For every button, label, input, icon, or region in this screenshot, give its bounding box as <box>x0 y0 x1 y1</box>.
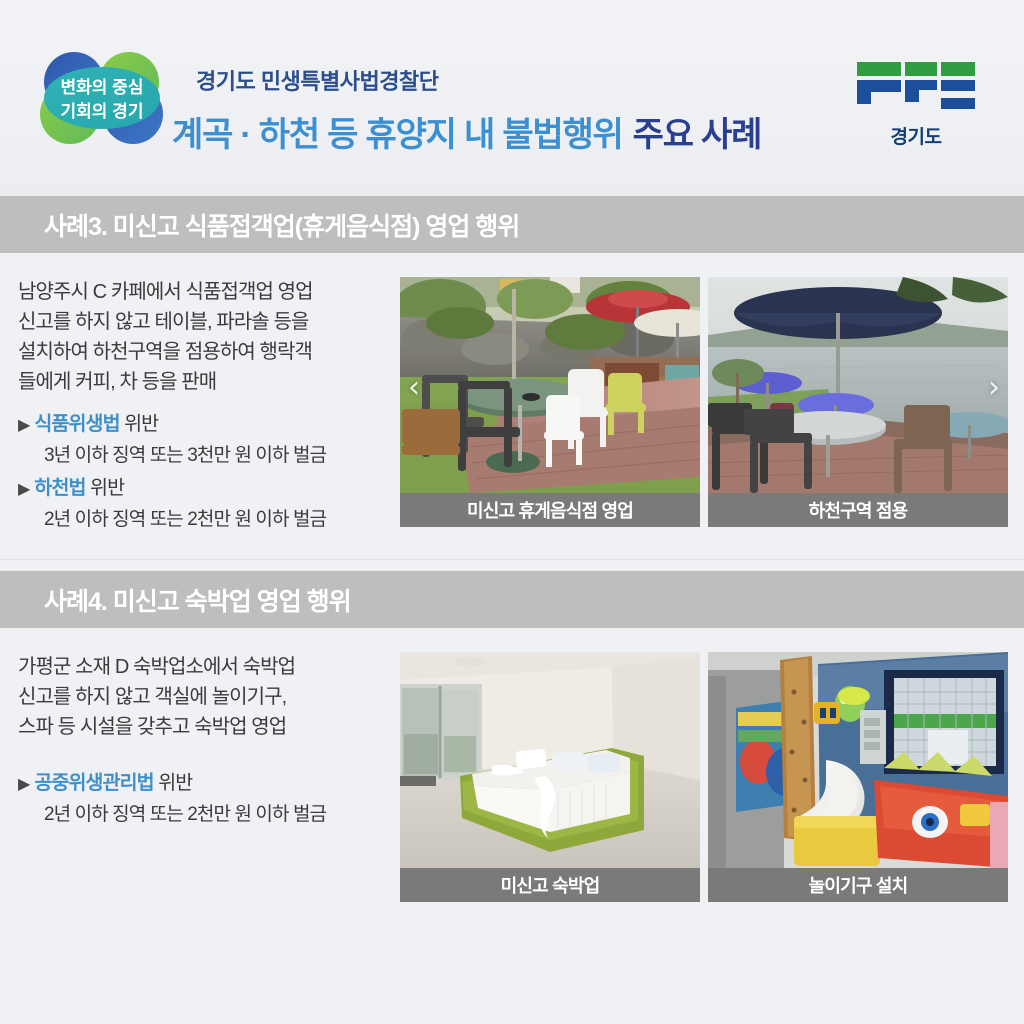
emblem-line1: 변화의 중심 <box>61 78 144 97</box>
violation-penalty: 2년 이하 징역 또는 2천만 원 이하 벌금 <box>18 505 400 535</box>
page-title: 계곡 · 하천 등 휴양지 내 불법행위주요 사례 <box>172 118 761 152</box>
carousel-prev-icon[interactable]: ‹ <box>408 373 420 403</box>
case-3-description: 남양주시 C 카페에서 식품접객업 영업 신고를 하지 않고 테이블, 파라솔 … <box>18 277 400 397</box>
case-3-header-bar: 사례3. 미신고 식품접객업(휴게음식점) 영업 행위 <box>0 196 1024 253</box>
case-3-body: 남양주시 C 카페에서 식품접객업 영업 신고를 하지 않고 테이블, 파라솔 … <box>0 253 1024 559</box>
violation-penalty: 3년 이하 징역 또는 3천만 원 이하 벌금 <box>18 441 400 471</box>
violation-item: ▶공중위생관리법 위반 2년 이하 징역 또는 2천만 원 이하 벌금 <box>18 768 400 830</box>
violation-suffix: 위반 <box>154 772 193 794</box>
photo-indoor-playroom-slide <box>708 652 1008 868</box>
violation-penalty: 2년 이하 징역 또는 2천만 원 이하 벌금 <box>18 800 400 830</box>
violation-item: ▶식품위생법 위반 3년 이하 징역 또는 3천만 원 이하 벌금 <box>18 409 400 471</box>
violation-suffix: 위반 <box>86 477 125 499</box>
violation-suffix: 위반 <box>120 413 159 435</box>
photo-card: 놀이기구 설치 <box>708 652 1008 902</box>
photo-guestroom-green-bed <box>400 652 700 868</box>
violation-heading: ▶식품위생법 위반 <box>18 409 400 441</box>
case-4-description: 가평군 소재 D 숙박업소에서 숙박업 신고를 하지 않고 객실에 놀이기구, … <box>18 652 400 742</box>
triangle-right-icon: ▶ <box>18 481 29 498</box>
violation-law-name: 식품위생법 <box>34 413 119 435</box>
emblem-line2: 기회의 경기 <box>61 102 144 121</box>
case-4-photo-pair: 미신고 숙박업 <box>400 652 1014 902</box>
photo-caption: 하천구역 점용 <box>708 493 1008 527</box>
gyeonggi-slogan-emblem: 변화의 중심 기회의 경기 <box>28 42 176 152</box>
carousel-next-icon[interactable]: › <box>988 373 1000 403</box>
section-divider <box>0 559 1024 571</box>
photo-caption: 미신고 휴게음식점 영업 <box>400 493 700 527</box>
case-3-photo-pair: ‹ 미신고 휴게음식점 영업 <box>400 277 1014 527</box>
violation-heading: ▶하천법 위반 <box>18 473 400 505</box>
violation-item: ▶하천법 위반 2년 이하 징역 또는 2천만 원 이하 벌금 <box>18 473 400 535</box>
photo-card: ‹ 미신고 휴게음식점 영업 <box>400 277 700 527</box>
violation-law-name: 하천법 <box>34 477 85 499</box>
case-4-text-column: 가평군 소재 D 숙박업소에서 숙박업 신고를 하지 않고 객실에 놀이기구, … <box>18 652 400 832</box>
case-3-violations: ▶식품위생법 위반 3년 이하 징역 또는 3천만 원 이하 벌금 ▶하천법 위… <box>18 409 400 535</box>
photo-caption: 미신고 숙박업 <box>400 868 700 902</box>
case-4-body: 가평군 소재 D 숙박업소에서 숙박업 신고를 하지 않고 객실에 놀이기구, … <box>0 628 1024 924</box>
page-title-primary: 계곡 · 하천 등 휴양지 내 불법행위 <box>172 116 623 154</box>
case-4-header-bar: 사례4. 미신고 숙박업 영업 행위 <box>0 571 1024 628</box>
case-3-text-column: 남양주시 C 카페에서 식품접객업 영업 신고를 하지 않고 테이블, 파라솔 … <box>18 277 400 537</box>
case-3-title: 사례3. 미신고 식품접객업(휴게음식점) 영업 행위 <box>44 207 519 243</box>
case-4-violations: ▶공중위생관리법 위반 2년 이하 징역 또는 2천만 원 이하 벌금 <box>18 768 400 830</box>
case-section-3: 사례3. 미신고 식품접객업(휴게음식점) 영업 행위 남양주시 C 카페에서 … <box>0 196 1024 559</box>
case-4-title: 사례4. 미신고 숙박업 영업 행위 <box>44 582 351 618</box>
photo-caption: 놀이기구 설치 <box>708 868 1008 902</box>
gyeonggi-do-logo: 경기도 <box>846 58 986 149</box>
photo-outdoor-cafe-deck <box>400 277 700 493</box>
photo-riverside-parasols <box>708 277 1008 493</box>
page-header: 변화의 중심 기회의 경기 경기도 민생특별사법경찰단 계곡 · 하천 등 휴양… <box>0 0 1024 196</box>
case-section-4: 사례4. 미신고 숙박업 영업 행위 가평군 소재 D 숙박업소에서 숙박업 신… <box>0 571 1024 924</box>
gyeonggi-do-logo-label: 경기도 <box>846 122 986 149</box>
photo-card: › 하천구역 점용 <box>708 277 1008 527</box>
violation-heading: ▶공중위생관리법 위반 <box>18 768 400 800</box>
violation-law-name: 공중위생관리법 <box>34 772 153 794</box>
organization-name: 경기도 민생특별사법경찰단 <box>196 64 439 96</box>
triangle-right-icon: ▶ <box>18 417 29 434</box>
page-title-secondary: 주요 사례 <box>633 116 762 154</box>
infographic-page: 변화의 중심 기회의 경기 경기도 민생특별사법경찰단 계곡 · 하천 등 휴양… <box>0 0 1024 1024</box>
triangle-right-icon: ▶ <box>18 776 29 793</box>
photo-card: 미신고 숙박업 <box>400 652 700 902</box>
